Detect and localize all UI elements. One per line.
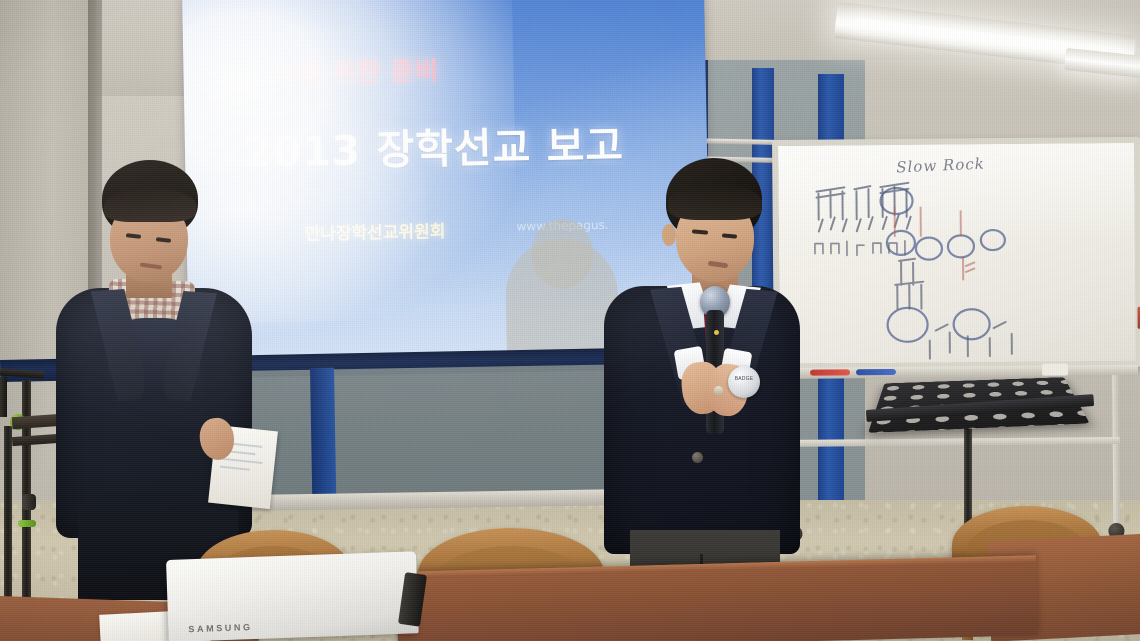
slide-subtitle: 대를 위한 준비	[275, 51, 439, 90]
slide-organization: 만나장학선교위원회	[304, 217, 445, 245]
right-person-ear	[662, 224, 676, 246]
whiteboard-leg-right	[1112, 375, 1120, 525]
photo-scene: 대를 위한 준비 2013 장학선교 보고 만나장학선교위원회 www.thep…	[0, 0, 1140, 641]
whiteboard-handwriting: Slow Rock	[778, 143, 1136, 364]
left-person-fringe	[104, 188, 196, 222]
right-person-jacket-button	[692, 452, 703, 463]
microphone-badge-text: BADGE	[728, 376, 760, 382]
mic-stand-green-ring	[18, 520, 36, 527]
red-marker[interactable]	[810, 369, 850, 375]
right-person-ring	[714, 386, 723, 395]
paper-line	[220, 466, 250, 471]
slide-title: 2013 장학선교 보고	[242, 112, 624, 179]
person-left	[52, 160, 262, 590]
person-right-speaker: BADGE	[604, 158, 804, 628]
microphone-badge: BADGE	[728, 366, 760, 398]
slide-subtitle-highlight: 대를 위한 준비	[275, 56, 439, 88]
right-person-fringe	[668, 184, 762, 220]
laptop-lid[interactable]: SAMSUNG	[166, 551, 419, 641]
slide-title-text: 장학선교 보고	[376, 122, 624, 175]
mic-stand-clutch[interactable]	[22, 494, 36, 510]
mic-stand-boom-drop	[0, 377, 7, 417]
laptop[interactable]: SAMSUNG	[166, 551, 419, 641]
laptop-brand-label: SAMSUNG	[188, 622, 253, 634]
paper-line	[221, 458, 263, 464]
microphone-led-indicator	[714, 330, 719, 335]
